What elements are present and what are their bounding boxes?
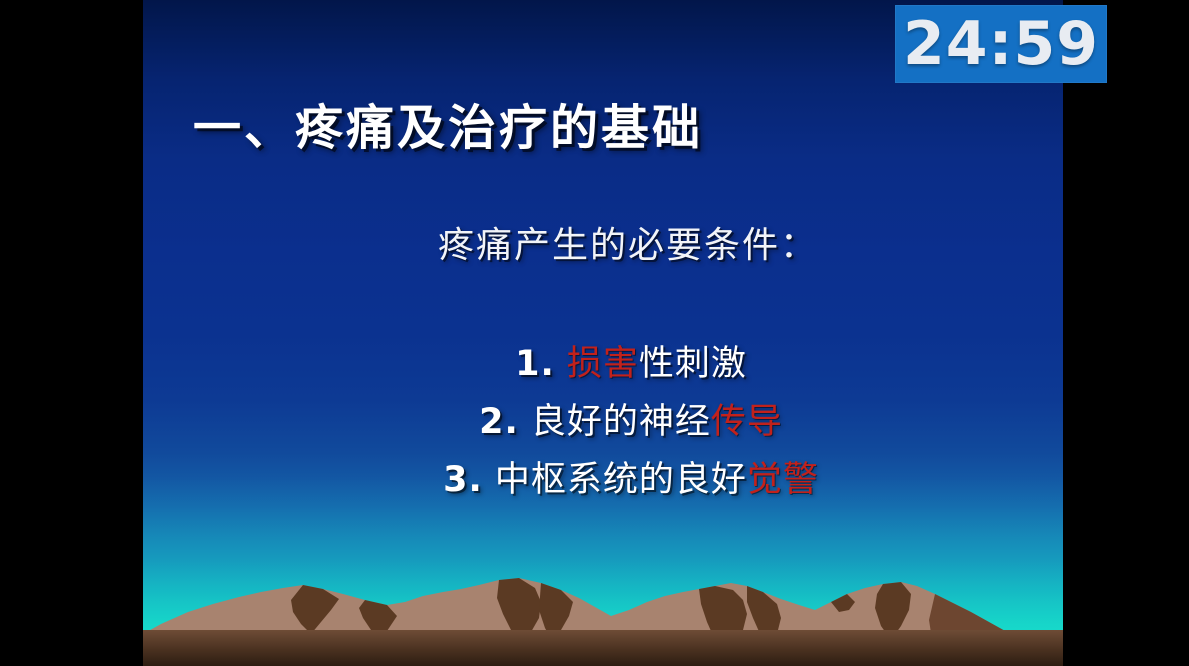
bullet-number-2: 2. — [479, 402, 519, 442]
video-player-frame: 一、疼痛及治疗的基础 疼痛产生的必要条件： 1.损害性刺激 2.良好的神经传导 … — [0, 0, 1189, 666]
bullet-text-3: 中枢系统的良好 — [495, 460, 747, 500]
slide-title: 一、疼痛及治疗的基础 — [193, 88, 703, 158]
bullet-item-1: 1.损害性刺激 — [143, 335, 1063, 393]
foreground-ground — [143, 630, 1063, 666]
bullet-number-3: 3. — [443, 460, 483, 500]
bullet-highlight-3: 觉警 — [747, 460, 819, 500]
bullet-text-2: 良好的神经 — [531, 402, 711, 442]
bullet-highlight-2: 传导 — [711, 402, 783, 442]
countdown-timer-value: 24:59 — [903, 14, 1099, 74]
right-pillarbox — [1063, 0, 1189, 666]
countdown-timer-overlay: 24:59 — [895, 5, 1107, 83]
bullet-text-1: 性刺激 — [639, 344, 747, 384]
left-pillarbox — [0, 0, 143, 666]
bullet-item-2: 2.良好的神经传导 — [143, 393, 1063, 451]
bullet-item-3: 3.中枢系统的良好觉警 — [143, 451, 1063, 509]
bullet-highlight-1: 损害 — [567, 344, 639, 384]
bullet-list: 1.损害性刺激 2.良好的神经传导 3.中枢系统的良好觉警 — [143, 335, 1063, 509]
slide-subtitle: 疼痛产生的必要条件： — [143, 216, 1063, 268]
presentation-slide: 一、疼痛及治疗的基础 疼痛产生的必要条件： 1.损害性刺激 2.良好的神经传导 … — [143, 0, 1063, 666]
bullet-number-1: 1. — [515, 344, 555, 384]
